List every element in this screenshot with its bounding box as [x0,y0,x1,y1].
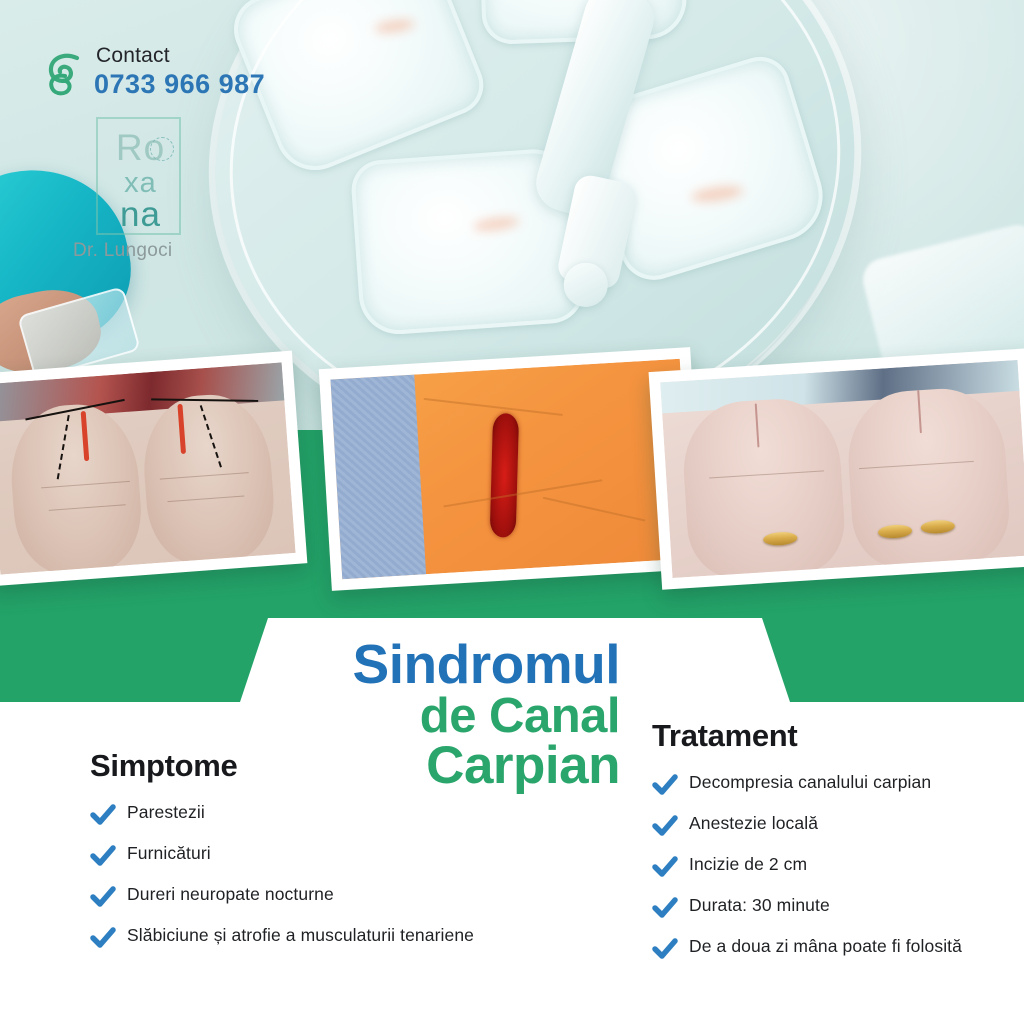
treatment-text: Anestezie locală [689,813,818,834]
title-line-2: de Canal [300,692,620,740]
list-item: De a doua zi mâna poate fi folosită [652,936,1024,960]
treatment-text: De a doua zi mâna poate fi folosită [689,936,962,957]
symptom-text: Parestezii [127,802,205,823]
lamp-warm-glow [473,215,520,233]
symptom-text: Furnicături [127,843,211,864]
brand-logo-box: Ro xa na [96,117,181,235]
list-item: Durata: 30 minute [652,895,1024,919]
lamp-warm-glow [374,17,415,34]
logo-decorative-circle-icon [150,137,174,161]
treatment-text: Decompresia canalului carpian [689,772,931,793]
swirl-logo-icon [47,52,93,96]
photo-image-post-operative [660,360,1024,578]
photo-card-intraoperative [319,347,704,591]
contact-phone-number[interactable]: 0733 966 987 [94,69,265,100]
lamp-warm-glow [690,183,743,204]
list-item: Parestezii [90,802,490,826]
doctor-name: Dr. Lungoci [73,240,253,262]
symptom-text: Slăbiciune și atrofie a musculaturii ten… [127,925,474,946]
treatment-heading: Tratament [652,718,1024,754]
logo-text-na: na [98,195,183,235]
contact-label: Contact [96,44,170,68]
check-icon [652,815,678,837]
symptom-text: Dureri neuropate nocturne [127,884,334,905]
list-item: Incizie de 2 cm [652,854,1024,878]
photo-card-post-operative [649,348,1024,589]
infographic-canvas: Contact 0733 966 987 Ro xa na Dr. Lungoc… [0,0,1024,1024]
check-icon [90,845,116,867]
treatment-text: Incizie de 2 cm [689,854,807,875]
list-item: Anestezie locală [652,813,1024,837]
photo-image-pre-operative [0,362,296,574]
check-icon [90,927,116,949]
check-icon [652,774,678,796]
check-icon [652,938,678,960]
check-icon [90,886,116,908]
check-icon [652,897,678,919]
symptoms-heading: Simptome [90,748,490,784]
title-line-1: Sindromul [300,638,620,692]
symptoms-column: Simptome Parestezii Furnicături Dureri n… [90,748,490,966]
check-icon [652,856,678,878]
photo-image-intraoperative [330,359,691,579]
list-item: Furnicături [90,843,490,867]
list-item: Slăbiciune și atrofie a musculaturii ten… [90,925,490,949]
check-icon [90,804,116,826]
list-item: Dureri neuropate nocturne [90,884,490,908]
list-item: Decompresia canalului carpian [652,772,1024,796]
treatment-text: Durata: 30 minute [689,895,830,916]
photo-card-pre-operative [0,351,307,587]
treatment-column: Tratament Decompresia canalului carpian … [652,718,1024,977]
